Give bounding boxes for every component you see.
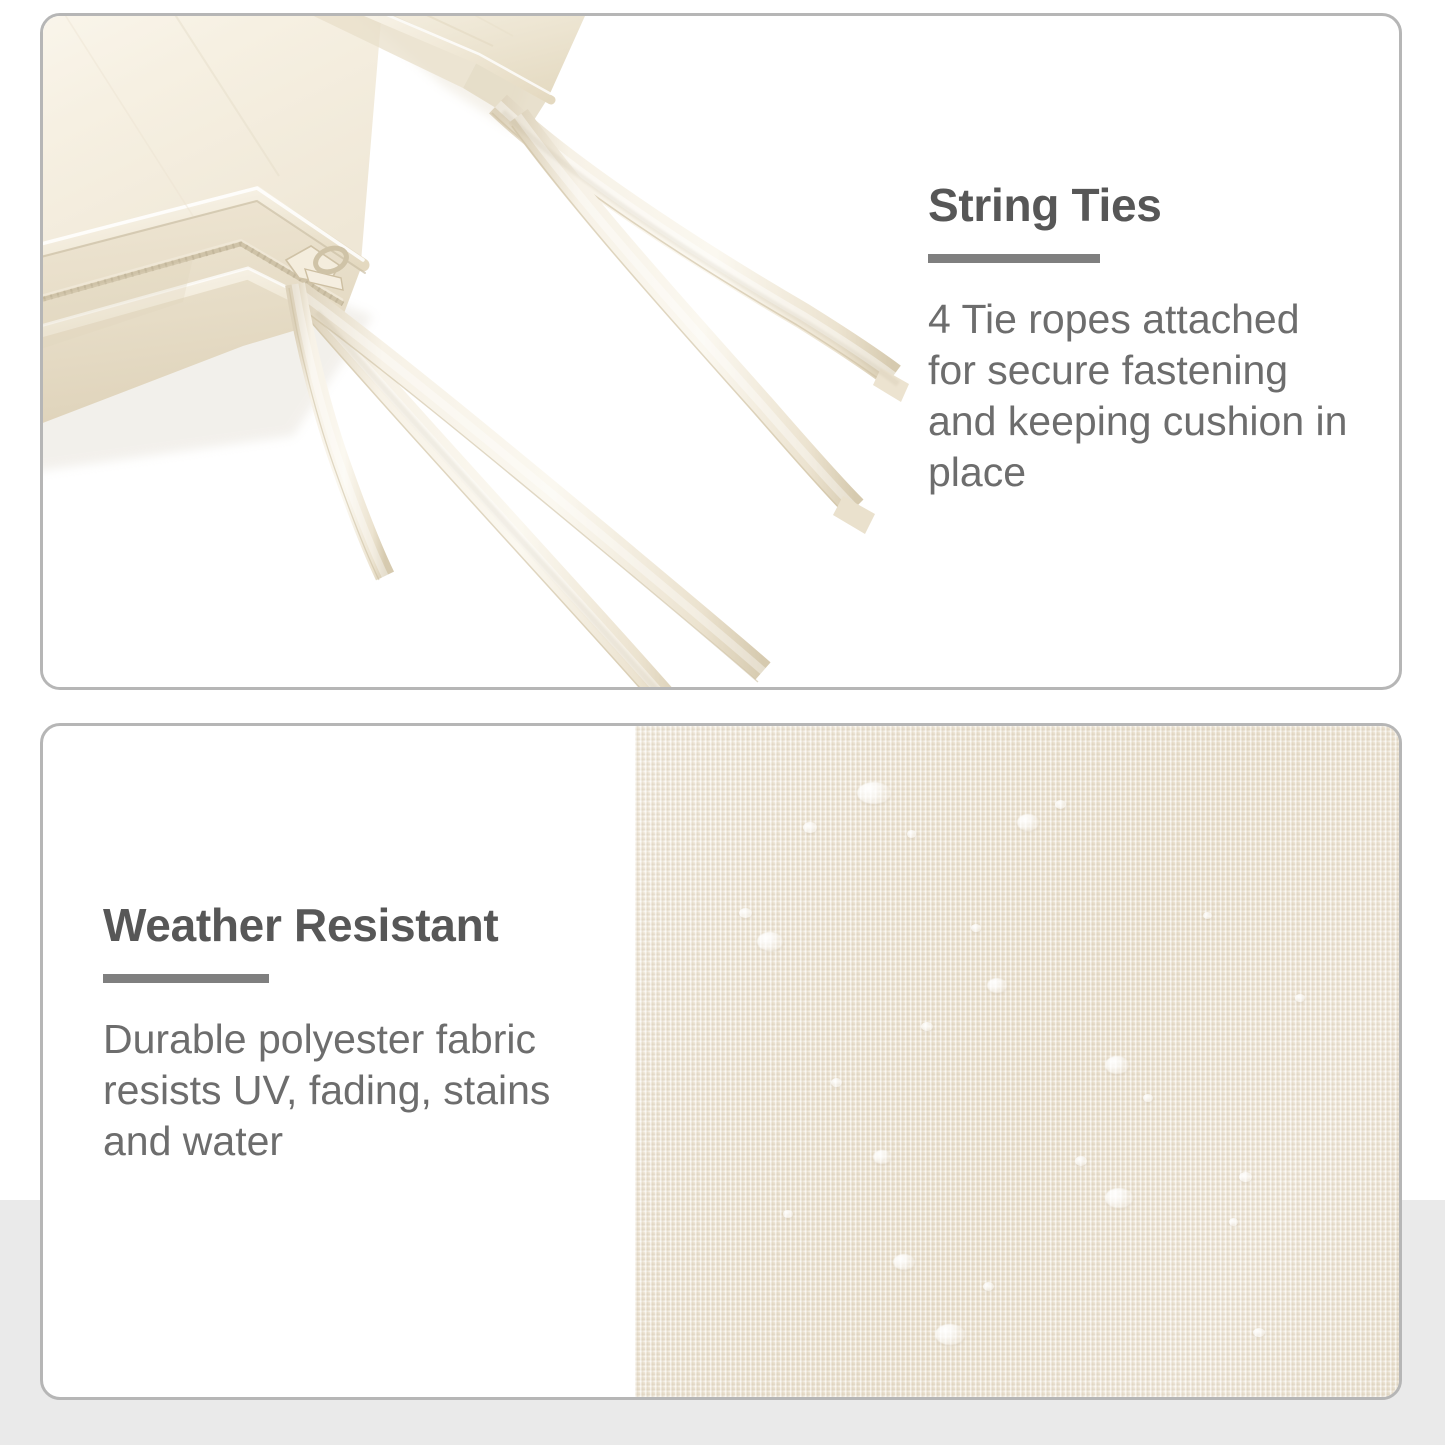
water-droplet	[1105, 1188, 1133, 1208]
water-droplet	[803, 822, 817, 833]
feature-heading-string-ties: String Ties	[928, 181, 1358, 229]
product-feature-page: String Ties 4 Tie ropes attached for sec…	[0, 0, 1445, 1445]
feature-panel-string-ties: String Ties 4 Tie ropes attached for sec…	[40, 13, 1402, 690]
water-droplet	[1075, 1156, 1087, 1166]
water-droplet	[1229, 1218, 1238, 1226]
water-droplet	[971, 924, 981, 932]
water-droplet	[935, 1324, 965, 1345]
water-droplet	[857, 782, 891, 804]
water-droplet	[1239, 1172, 1252, 1182]
feature-text-string-ties: String Ties 4 Tie ropes attached for sec…	[928, 181, 1358, 498]
water-droplet	[1105, 1056, 1129, 1074]
water-droplet	[757, 932, 783, 951]
water-droplet	[739, 908, 752, 918]
water-droplet	[831, 1078, 842, 1087]
accent-rule-weather-resistant	[103, 974, 269, 983]
water-droplet	[987, 978, 1007, 993]
water-droplet	[1203, 912, 1212, 919]
water-droplet	[783, 1210, 793, 1218]
water-droplet	[907, 830, 916, 838]
feature-body-weather-resistant: Durable polyester fabric resists UV, fad…	[103, 1014, 573, 1167]
water-droplet	[983, 1282, 994, 1291]
feature-heading-weather-resistant: Weather Resistant	[103, 901, 573, 949]
water-droplet	[1055, 800, 1066, 809]
water-droplet	[893, 1254, 915, 1270]
feature-panel-weather-resistant: Weather Resistant Durable polyester fabr…	[40, 723, 1402, 1400]
water-droplet	[1253, 1328, 1265, 1337]
cushion-string-ties-photo	[43, 16, 943, 687]
water-droplet	[873, 1150, 891, 1164]
accent-rule-string-ties	[928, 254, 1100, 263]
water-droplet	[921, 1022, 933, 1031]
water-droplet	[1295, 994, 1305, 1002]
water-droplet	[1143, 1094, 1153, 1102]
water-droplet	[1017, 814, 1039, 831]
feature-body-string-ties: 4 Tie ropes attached for secure fastenin…	[928, 294, 1358, 498]
feature-text-weather-resistant: Weather Resistant Durable polyester fabr…	[103, 901, 573, 1167]
fabric-water-beading-photo	[635, 726, 1399, 1397]
